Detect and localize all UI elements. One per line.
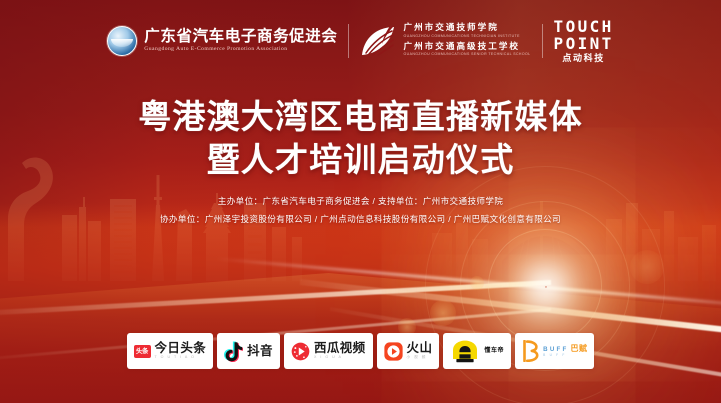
org-logo-touchpoint: TOUCH POINT 点动科技 (554, 19, 614, 63)
partner-sub-xigua: X I G U A (314, 356, 366, 360)
partner-sub-buff: B U F F (543, 354, 587, 357)
xigua-play-icon (291, 342, 310, 361)
partner-card-buff[interactable]: BUFF 巴赋 B U F F (515, 333, 594, 369)
poster-credits: 主办单位：广东省汽车电子商务促进会 / 支持单位：广州市交通技师学院 协办单位：… (0, 192, 721, 229)
poster-title: 粤港澳大湾区电商直播新媒体 暨人才培训启动仪式 (0, 96, 721, 182)
org2-name-en-2: GUANGZHOU COMMUNICATIONS SENIOR TECHNICA… (403, 52, 530, 57)
title-line-1: 粤港澳大湾区电商直播新媒体 (0, 96, 721, 139)
partner-card-dongchedi[interactable]: 懂车帝 (443, 333, 511, 369)
touchpoint-line2: POINT (554, 36, 614, 52)
partner-card-xigua[interactable]: 西瓜视频 X I G U A (284, 333, 373, 369)
partner-card-douyin[interactable]: 抖音 (217, 333, 280, 369)
org1-name-en: Guangdong Auto E-Commerce Promotion Asso… (144, 45, 337, 53)
logo-divider-2 (542, 24, 543, 58)
partner-sub-toutiao: T O U T I A O (155, 356, 207, 360)
partner-name-xigua: 西瓜视频 (314, 342, 366, 355)
touchpoint-cn: 点动科技 (562, 54, 604, 63)
org1-name-cn: 广东省汽车电子商务促进会 (144, 29, 337, 45)
buff-b-icon (522, 340, 539, 362)
partner-name-toutiao: 今日头条 (155, 342, 207, 355)
huoshan-play-icon (384, 342, 403, 361)
partner-logo-strip: 头条 今日头条 T O U T I A O 抖音 (0, 333, 721, 369)
partner-name-douyin: 抖音 (247, 345, 273, 358)
org2-name-en-1: GUANGZHOU COMMUNICATIONS TECHNICIAN INST… (403, 34, 530, 39)
title-line-2: 暨人才培训启动仪式 (0, 139, 721, 182)
partner-name-buff-cn: 巴赋 (570, 345, 587, 353)
partner-name-dongchedi: 懂车帝 (484, 348, 504, 354)
org2-name-cn-1: 广州市交通技师学院 (403, 23, 530, 33)
toutiao-icon: 头条 (134, 345, 151, 358)
header-logo-bar: 广东省汽车电子商务促进会 Guangdong Auto E-Commerce P… (0, 14, 721, 68)
poster-canvas: 广东省汽车电子商务促进会 Guangdong Auto E-Commerce P… (0, 0, 721, 403)
toutiao-badge: 头条 (134, 345, 151, 358)
dongchedi-icon (450, 339, 480, 363)
org-logo-gzcti: 广州市交通技师学院 GUANGZHOU COMMUNICATIONS TECHN… (360, 23, 530, 59)
logo-divider-1 (348, 24, 349, 58)
partner-card-toutiao[interactable]: 头条 今日头条 T O U T I A O (127, 333, 214, 369)
partner-sub-huoshan: 小 视 频 (407, 356, 433, 360)
org-logo-gdaecpa: 广东省汽车电子商务促进会 Guangdong Auto E-Commerce P… (107, 26, 337, 56)
credit-line-2: 协办单位：广州泽宇投资股份有限公司 / 广州点动信息科技股份有限公司 / 广州巴… (0, 210, 721, 228)
globe-emblem-icon (107, 26, 137, 56)
org2-name-cn-2: 广州市交通高级技工学校 (403, 42, 530, 52)
road-fan-emblem-icon (360, 24, 396, 58)
douyin-note-icon (224, 341, 243, 362)
partner-name-huoshan: 火山 (407, 342, 433, 355)
partner-name-buff-en: BUFF (543, 347, 568, 353)
partner-card-huoshan[interactable]: 火山 小 视 频 (377, 333, 440, 369)
sun-burst-icon (545, 286, 547, 288)
credit-line-1: 主办单位：广东省汽车电子商务促进会 / 支持单位：广州市交通技师学院 (0, 192, 721, 210)
